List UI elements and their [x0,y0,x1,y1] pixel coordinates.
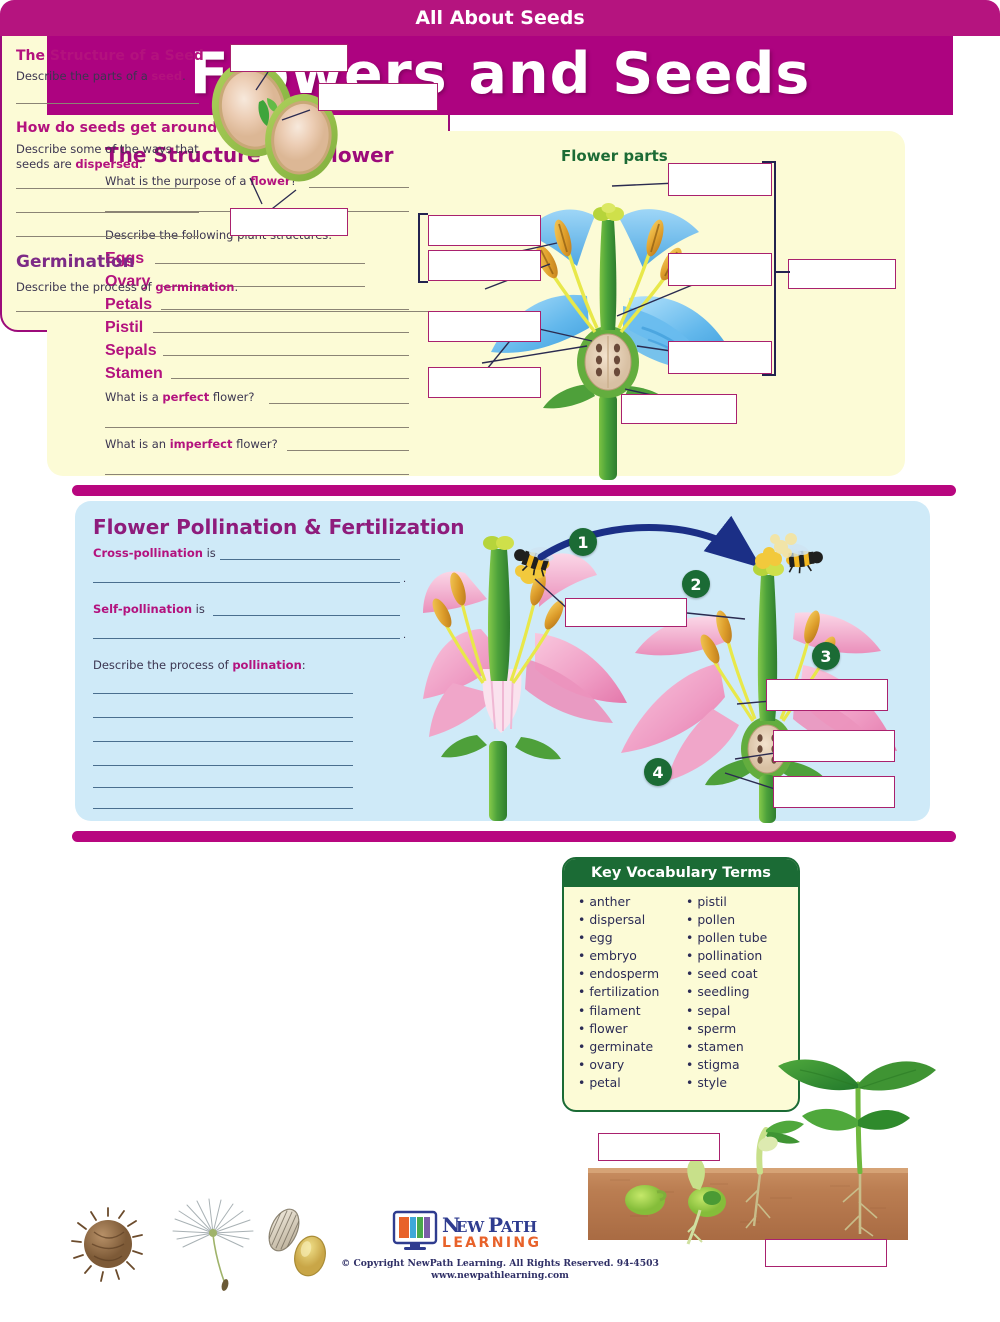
flower-label-box-8[interactable] [428,367,541,398]
vocabulary-heading-band: Key Vocabulary Terms [564,859,798,887]
germination-sequence-diagram [560,1040,960,1290]
list-item: pollen tube [686,929,794,947]
seed-label-box-3[interactable] [230,208,348,236]
step-number-2: 2 [682,570,710,598]
logo-ath-text: ATH [500,1218,537,1236]
list-item: anther [578,893,686,911]
pollination-leader-lines [75,501,930,821]
list-item: pistil [686,893,794,911]
section-all-about-seeds: All About Seeds The Structure of a Seed … [0,0,450,332]
list-item: endosperm [578,965,686,983]
seed-label-box-1[interactable] [230,44,348,72]
vocabulary-heading: Key Vocabulary Terms [591,865,771,881]
seed-label-box-2[interactable] [318,83,438,111]
list-item: egg [578,929,686,947]
bracket-right-pistil [762,161,776,376]
list-item: seed coat [686,965,794,983]
seed-leader-lines [0,0,450,332]
pollination-label-box-2[interactable] [766,679,888,711]
flower-label-box-5[interactable] [788,259,896,289]
logo-ew-text: EW [456,1218,485,1236]
newpath-learning-logo: N EW P ATH LEARNING [392,1209,597,1253]
germination-label-box-2[interactable] [765,1239,887,1267]
step-number-1: 1 [569,528,597,556]
flower-label-box-9[interactable] [621,394,737,424]
section-pollination-fertilization: Flower Pollination & Fertilization Cross… [75,501,930,821]
list-item: pollination [686,947,794,965]
step-number-3: 3 [812,642,840,670]
flower-label-box-4[interactable] [668,253,772,286]
list-item: flower [578,1020,686,1038]
germination-stage-1 [625,1185,665,1215]
list-item: sepal [686,1002,794,1020]
list-item: fertilization [578,983,686,1001]
website-text[interactable]: www.newpathlearning.com [300,1270,700,1282]
pollination-label-box-1[interactable] [565,598,687,627]
flower-label-box-1[interactable] [668,163,772,196]
list-item: pollen [686,911,794,929]
bracket-right-connector [776,271,790,273]
list-item: seedling [686,983,794,1001]
germination-label-box-1[interactable] [598,1133,720,1161]
divider-bar-1 [72,485,956,496]
flower-label-box-7[interactable] [668,341,772,374]
burr-seed-icon [72,1208,142,1281]
divider-bar-2 [72,831,956,842]
pollination-label-box-4[interactable] [773,776,895,808]
dandelion-seed-icon [173,1199,253,1292]
pollination-label-box-3[interactable] [773,730,895,762]
poster-root: Flowers and Seeds The Structure of a Flo… [0,0,1000,1322]
footer-copyright-block: © Copyright NewPath Learning. All Rights… [300,1258,700,1282]
copyright-text: © Copyright NewPath Learning. All Rights… [300,1258,700,1270]
list-item: dispersal [578,911,686,929]
logo-learning-text: LEARNING [442,1235,541,1251]
step-number-4: 4 [644,758,672,786]
list-item: sperm [686,1020,794,1038]
list-item: embryo [578,947,686,965]
list-item: filament [578,1002,686,1020]
